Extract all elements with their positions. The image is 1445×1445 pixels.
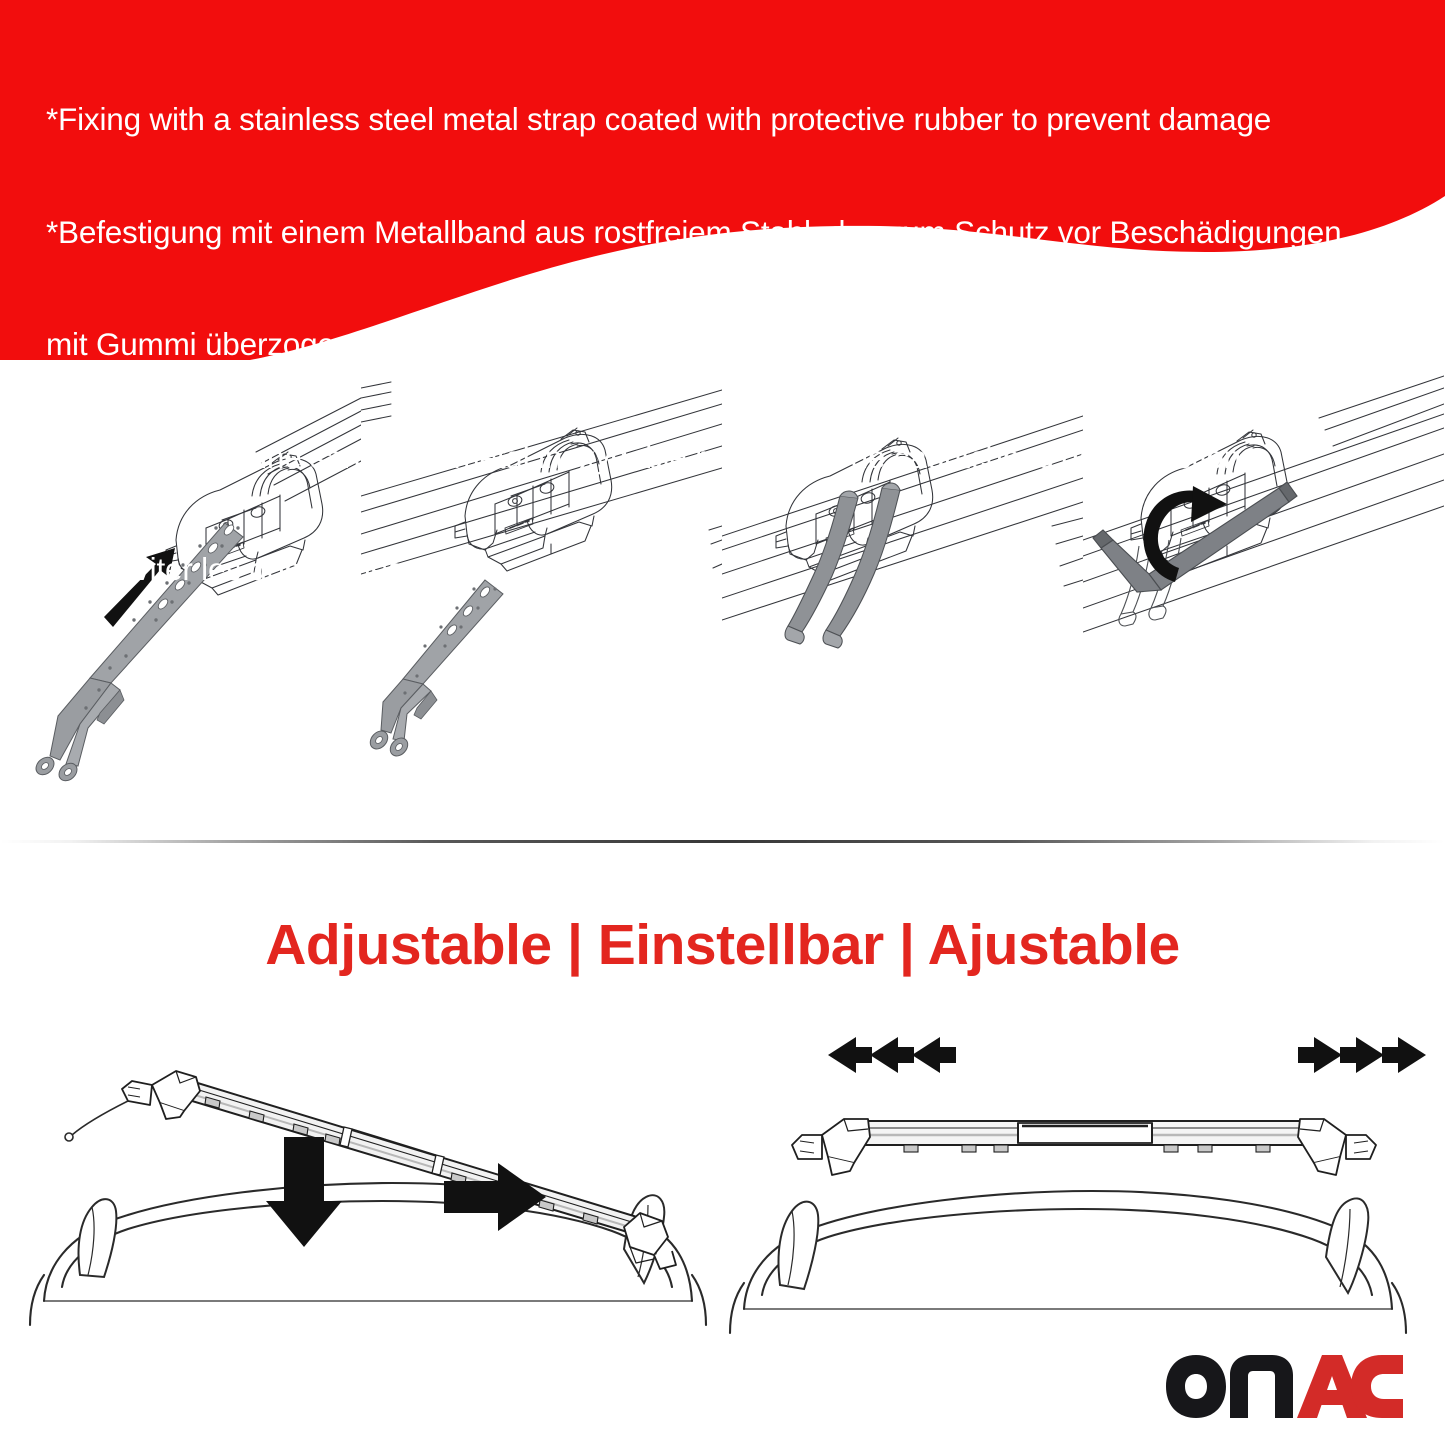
adjustable-heading: Adjustable | Einstellbar | Ajustable bbox=[0, 912, 1445, 978]
crossbar-end-foot-left bbox=[122, 1071, 200, 1119]
triple-arrow-right-icon bbox=[1298, 1037, 1426, 1073]
crossbar-horizontal bbox=[844, 1121, 1324, 1152]
crossbar-foot-left-mounted bbox=[792, 1119, 870, 1175]
section-divider bbox=[0, 840, 1445, 850]
crossbar-tilted bbox=[172, 1077, 650, 1237]
logo-letter-o bbox=[1166, 1355, 1226, 1418]
header-line-5: pour éviter les dommages. bbox=[46, 551, 1426, 589]
adjustable-diagrams-row bbox=[0, 1025, 1445, 1355]
diagram-adjust-crossbar-width bbox=[722, 1025, 1444, 1355]
triple-arrow-left-icon bbox=[828, 1037, 956, 1073]
car-roof-outline-left bbox=[30, 1183, 706, 1325]
logo-letter-c bbox=[1351, 1355, 1403, 1418]
tension-wire bbox=[65, 1101, 128, 1141]
header-line-4: *Fixation avec une sangle en métal inoxy… bbox=[46, 439, 1426, 477]
header-line-1: *Fixing with a stainless steel metal str… bbox=[46, 101, 1426, 139]
arrow-down-icon bbox=[266, 1137, 342, 1247]
omac-logo bbox=[1162, 1351, 1407, 1423]
car-roof-outline-right bbox=[730, 1191, 1406, 1333]
divider-rule bbox=[0, 840, 1445, 843]
logo-letter-m bbox=[1230, 1355, 1293, 1418]
header-line-2: *Befestigung mit einem Metallband aus ro… bbox=[46, 214, 1426, 252]
diagram-place-crossbar-on-roof bbox=[0, 1025, 722, 1355]
header-description-text: *Fixing with a stainless steel metal str… bbox=[46, 26, 1426, 626]
crossbar-foot-right-mounted bbox=[1298, 1119, 1376, 1175]
header-line-3: mit Gummi überzogen ist bbox=[46, 326, 1426, 364]
